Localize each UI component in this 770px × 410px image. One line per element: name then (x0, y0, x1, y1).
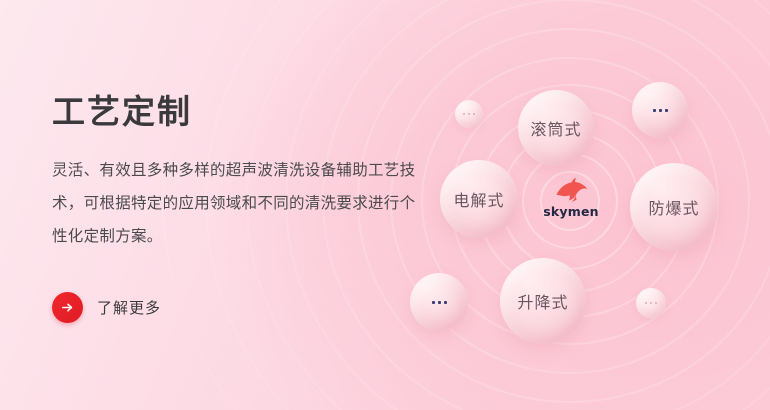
bubble-label: 电解式 (453, 187, 504, 211)
bubble-label: 滚筒式 (530, 116, 581, 140)
process-customization-banner: 工艺定制 灵活、有效且多种多样的超声波清洗设备辅助工艺技术，可根据特定的应用领域… (0, 0, 770, 410)
bubble-dianjie[interactable]: 电解式 (440, 160, 518, 238)
bubble-fangbao[interactable]: 防爆式 (630, 163, 718, 251)
ellipsis-icon (653, 109, 668, 112)
bubble-more-tiny-top-left[interactable] (455, 100, 483, 128)
ellipsis-icon (463, 113, 475, 115)
skymen-logo: skymen (541, 176, 601, 226)
bubble-shengjiang[interactable]: 升降式 (500, 258, 586, 344)
bubble-more-bottom-left[interactable] (410, 273, 468, 331)
bubble-label: 防爆式 (648, 195, 699, 219)
bubble-more-top-right[interactable] (632, 82, 688, 138)
dolphin-icon (551, 176, 591, 203)
bubble-more-tiny-bottom-right[interactable] (636, 288, 666, 318)
bubble-gunton[interactable]: 滚筒式 (518, 90, 594, 166)
brand-wordmark: skymen (543, 204, 599, 219)
process-bubble-cluster: 滚筒式 电解式 防爆式 升降式 (0, 0, 770, 410)
ellipsis-icon (645, 302, 657, 304)
bubble-label: 升降式 (517, 289, 568, 313)
ellipsis-icon (432, 301, 447, 304)
